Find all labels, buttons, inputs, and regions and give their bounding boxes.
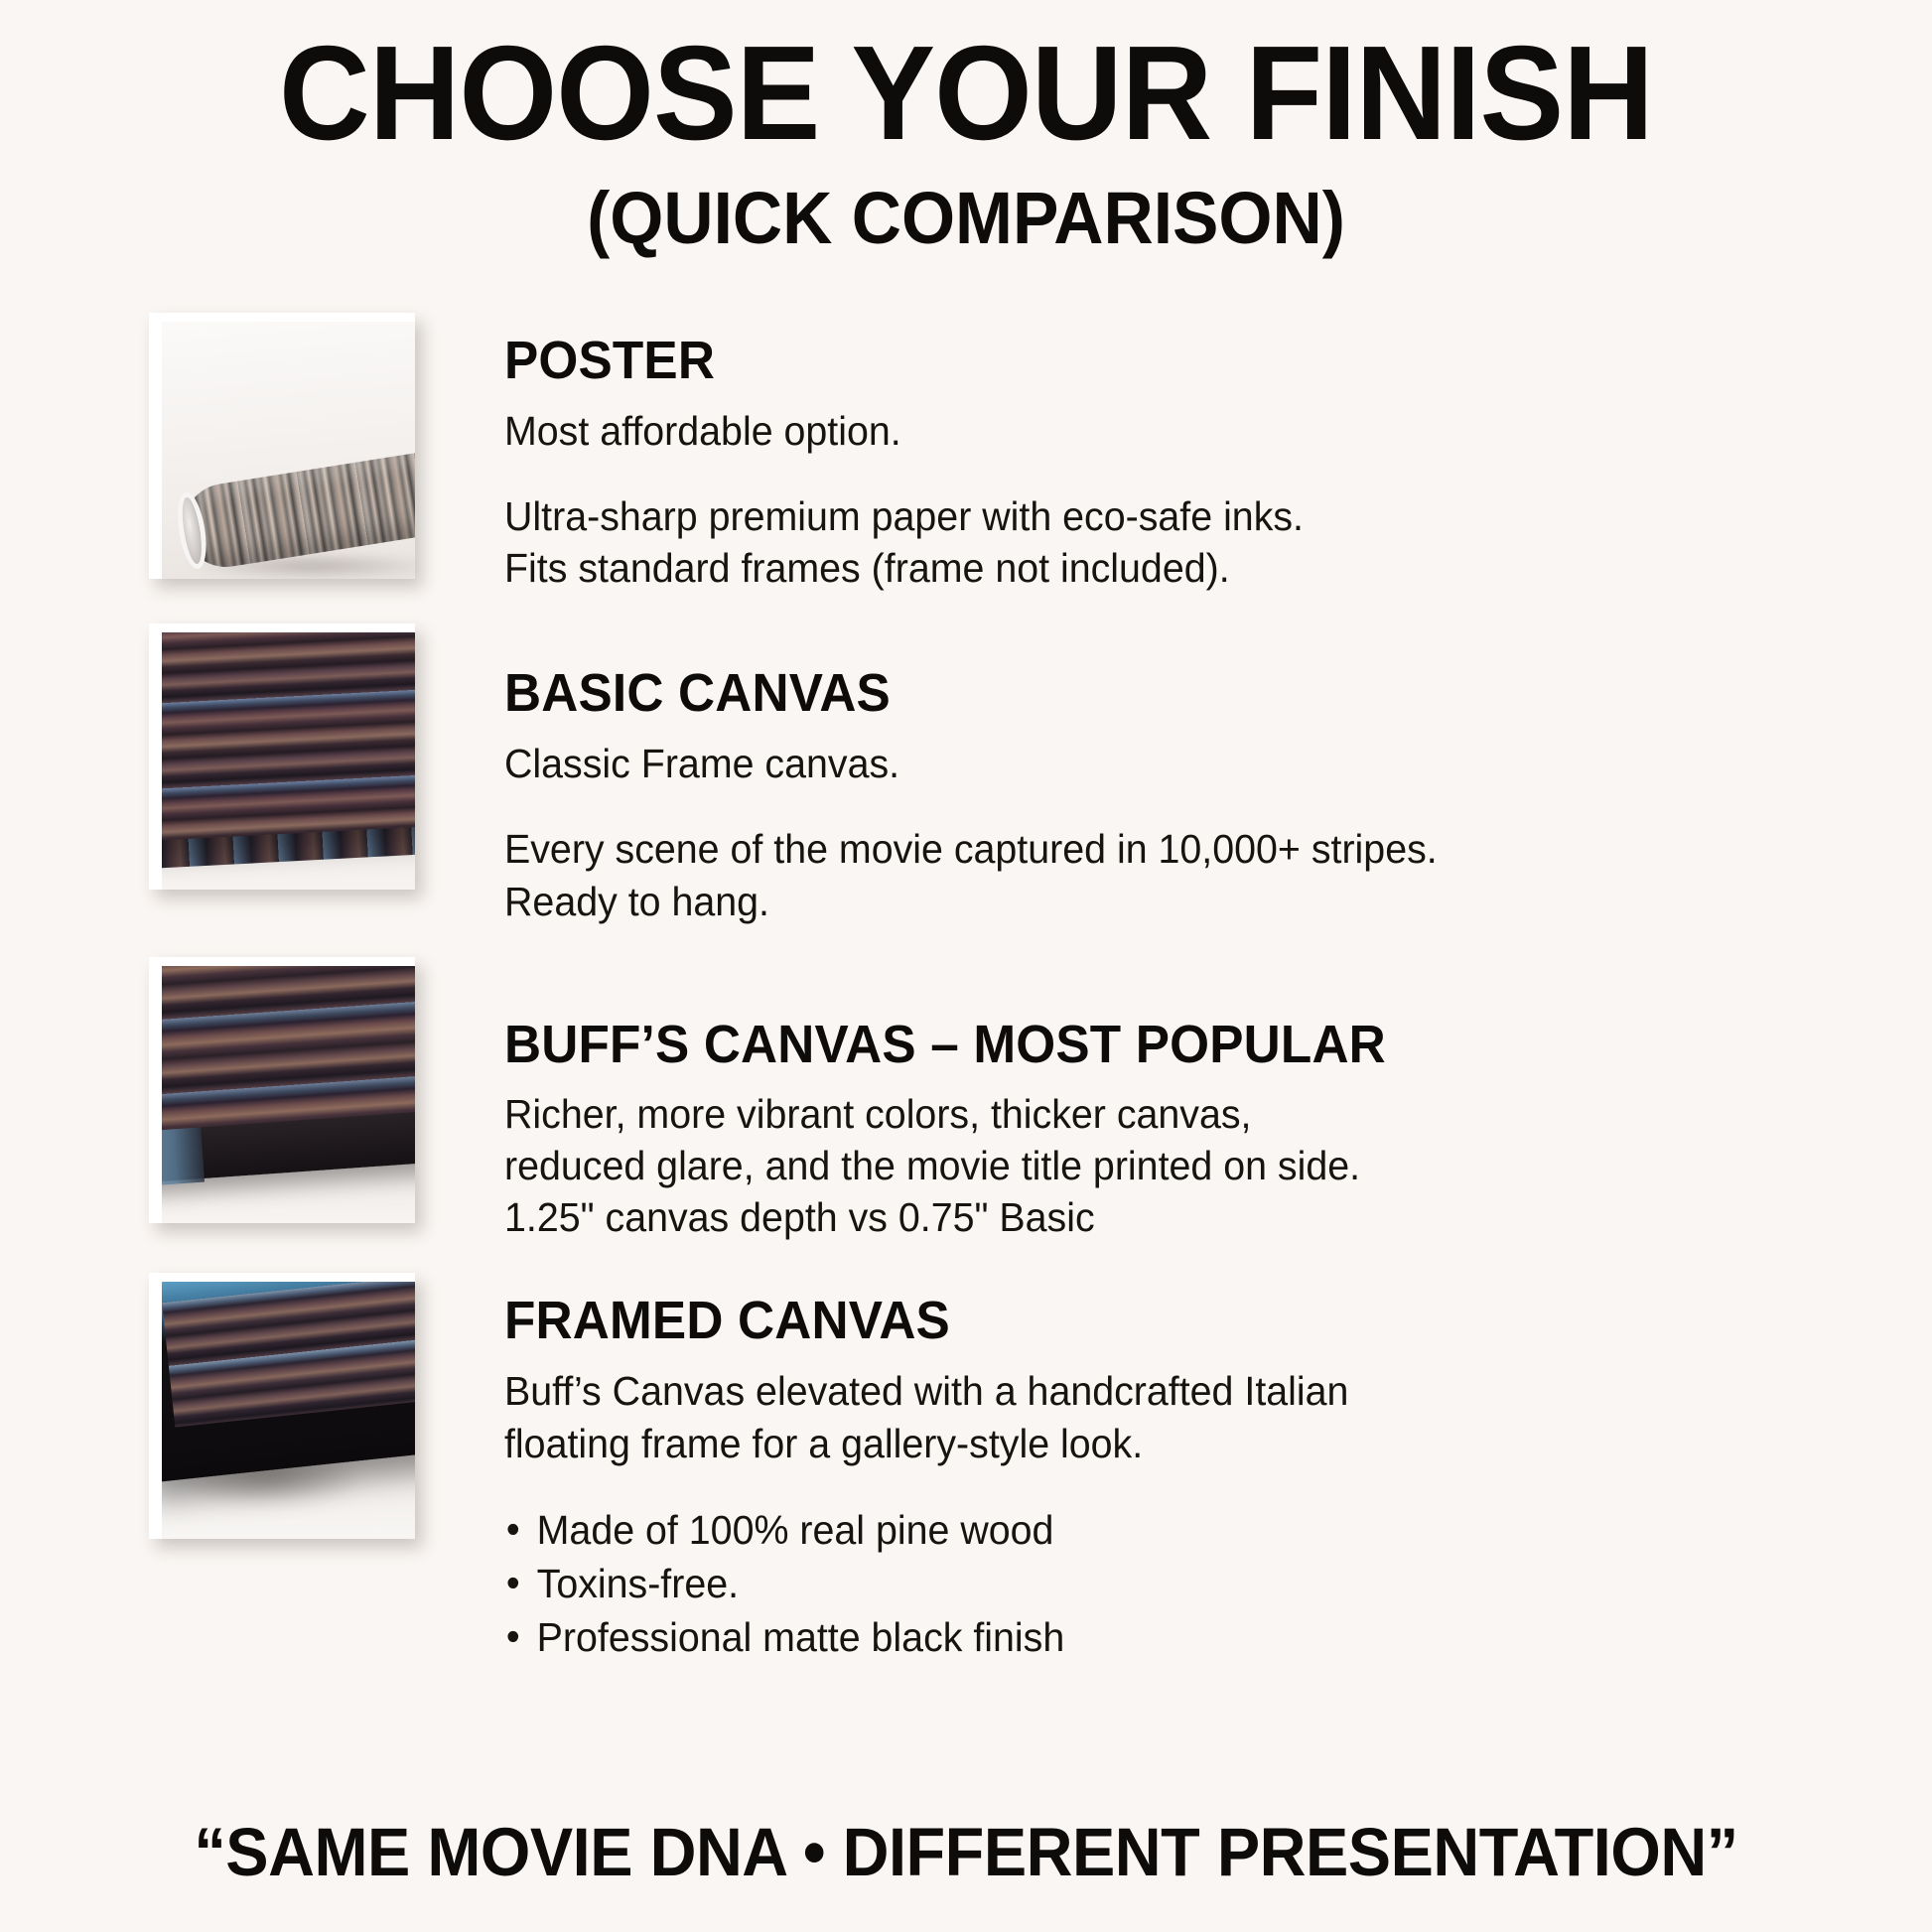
- option-title: BASIC CANVAS: [504, 665, 1861, 722]
- poster-roll-end-cap: [173, 490, 210, 571]
- option-title: FRAMED CANVAS: [504, 1293, 1861, 1349]
- footer: “SAME MOVIE DNA • DIFFERENT PRESENTATION…: [0, 1817, 1932, 1888]
- framed-canvas-thumbnail-wrapper[interactable]: [149, 1273, 415, 1539]
- framed-canvas-corner-photo[interactable]: [149, 1273, 415, 1539]
- buffs-canvas-photo-inner: [162, 966, 415, 1223]
- basic-canvas-face: [162, 632, 415, 841]
- list-item: Toxins-free.: [504, 1557, 1874, 1610]
- poster-text-block: POSTER Most affordable option. Ultra-sha…: [415, 313, 1932, 594]
- framed-canvas-text-block: FRAMED CANVAS Buff’s Canvas elevated wit…: [415, 1273, 1932, 1664]
- basic-canvas-text-block: BASIC CANVAS Classic Frame canvas. Every…: [415, 623, 1932, 926]
- buffs-canvas-photo-scene: [162, 966, 415, 1223]
- framed-canvas-photo-inner: [162, 1282, 415, 1539]
- basic-canvas-edge-photo[interactable]: [149, 623, 415, 890]
- basic-canvas-thumbnail-wrapper[interactable]: [149, 623, 415, 890]
- page-title: CHOOSE YOUR FINISH: [58, 26, 1873, 160]
- option-title: POSTER: [504, 333, 1861, 389]
- poster-photo-inner: [162, 322, 415, 579]
- list-item: Made of 100% real pine wood: [504, 1503, 1874, 1557]
- list-item: Professional matte black finish: [504, 1610, 1874, 1664]
- framed-canvas-artwork: [162, 1282, 415, 1428]
- buffs-canvas-thumbnail-wrapper[interactable]: [149, 957, 415, 1223]
- basic-canvas-photo-scene: [162, 632, 415, 890]
- buffs-canvas-corner-photo[interactable]: [149, 957, 415, 1223]
- option-lead: Classic Frame canvas.: [504, 738, 1874, 789]
- finish-options-list: POSTER Most affordable option. Ultra-sha…: [0, 313, 1932, 1664]
- option-detail: Every scene of the movie captured in 10,…: [504, 823, 1874, 926]
- rolled-poster-photo[interactable]: [149, 313, 415, 579]
- list-item[interactable]: FRAMED CANVAS Buff’s Canvas elevated wit…: [149, 1273, 1932, 1664]
- footer-tagline: “SAME MOVIE DNA • DIFFERENT PRESENTATION…: [58, 1817, 1873, 1888]
- option-detail: Richer, more vibrant colors, thicker can…: [504, 1088, 1874, 1243]
- poster-photo-scene: [162, 322, 415, 579]
- buffs-canvas-face: [162, 966, 415, 1132]
- framed-canvas-feature-list: Made of 100% real pine wood Toxins-free.…: [504, 1503, 1932, 1664]
- buffs-canvas-text-block: BUFF’S CANVAS – MOST POPULAR Richer, mor…: [415, 957, 1932, 1244]
- header: CHOOSE YOUR FINISH (QUICK COMPARISON): [0, 0, 1932, 255]
- list-item[interactable]: BUFF’S CANVAS – MOST POPULAR Richer, mor…: [149, 957, 1932, 1244]
- basic-canvas-photo-inner: [162, 632, 415, 890]
- option-detail: Ultra-sharp premium paper with eco-safe …: [504, 490, 1874, 594]
- list-item[interactable]: BASIC CANVAS Classic Frame canvas. Every…: [149, 623, 1932, 926]
- option-title: BUFF’S CANVAS – MOST POPULAR: [504, 1017, 1861, 1073]
- option-lead: Buff’s Canvas elevated with a handcrafte…: [504, 1365, 1874, 1469]
- framed-canvas-photo-scene: [162, 1282, 415, 1539]
- page-subtitle: (QUICK COMPARISON): [58, 182, 1873, 255]
- list-item[interactable]: POSTER Most affordable option. Ultra-sha…: [149, 313, 1932, 594]
- option-lead: Most affordable option.: [504, 405, 1874, 457]
- poster-thumbnail-wrapper[interactable]: [149, 313, 415, 579]
